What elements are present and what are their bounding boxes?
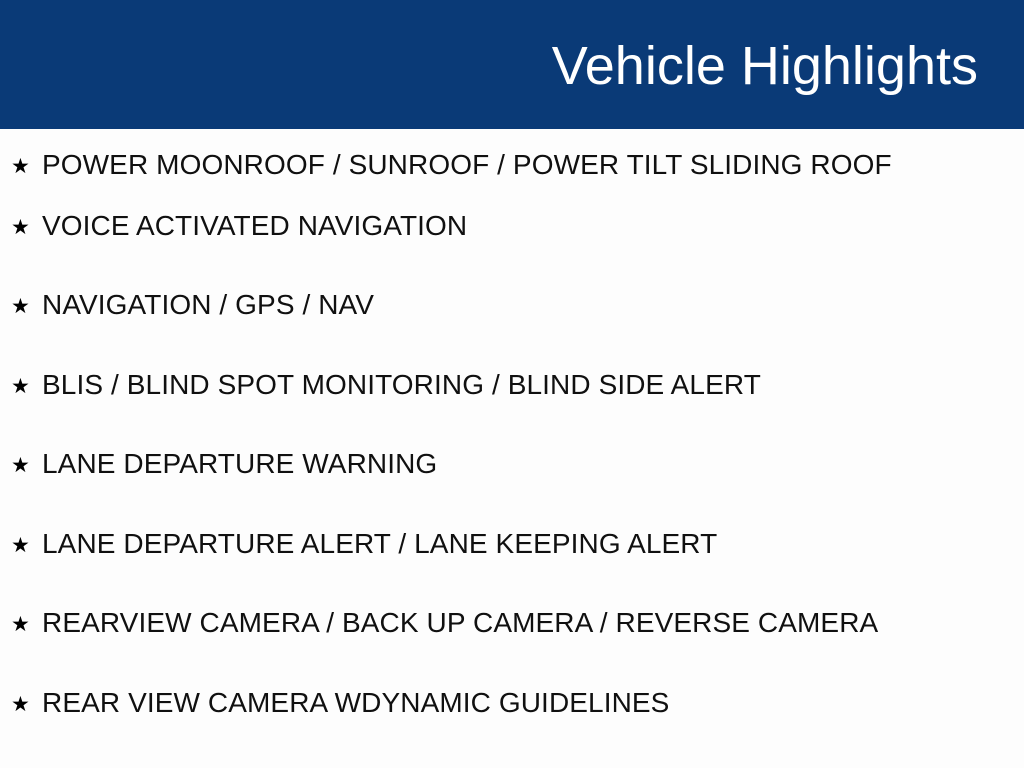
- list-item: ★ LANE DEPARTURE WARNING: [0, 447, 1024, 527]
- star-bullet-icon: ★: [11, 607, 42, 641]
- list-item: ★ BLIS / BLIND SPOT MONITORING / BLIND S…: [0, 368, 1024, 448]
- feature-label: LANE DEPARTURE WARNING: [42, 447, 1024, 481]
- feature-label: POWER MOONROOF / SUNROOF / POWER TILT SL…: [42, 148, 1024, 182]
- vehicle-features-list: ★ POWER MOONROOF / SUNROOF / POWER TILT …: [0, 129, 1024, 768]
- feature-label: BLIS / BLIND SPOT MONITORING / BLIND SID…: [42, 368, 1024, 402]
- list-item: ★ LANE DEPARTURE ALERT / LANE KEEPING AL…: [0, 527, 1024, 607]
- star-bullet-icon: ★: [11, 528, 42, 562]
- star-bullet-icon: ★: [11, 448, 42, 482]
- star-bullet-icon: ★: [11, 149, 42, 183]
- feature-label: VOICE ACTIVATED NAVIGATION: [42, 209, 1024, 243]
- feature-label: REARVIEW CAMERA / BACK UP CAMERA / REVER…: [42, 606, 1024, 640]
- feature-label: LANE DEPARTURE ALERT / LANE KEEPING ALER…: [42, 527, 1024, 561]
- feature-label: NAVIGATION / GPS / NAV: [42, 288, 1024, 322]
- star-bullet-icon: ★: [11, 369, 42, 403]
- list-item: ★ VOICE ACTIVATED NAVIGATION: [0, 209, 1024, 289]
- list-item: ★ REARVIEW CAMERA / BACK UP CAMERA / REV…: [0, 606, 1024, 686]
- star-bullet-icon: ★: [11, 210, 42, 244]
- vehicle-highlights-slide: Vehicle Highlights ★ POWER MOONROOF / SU…: [0, 0, 1024, 768]
- feature-label: REAR VIEW CAMERA WDYNAMIC GUIDELINES: [42, 686, 1024, 720]
- star-bullet-icon: ★: [11, 289, 42, 323]
- list-item: ★ POWER MOONROOF / SUNROOF / POWER TILT …: [0, 129, 1024, 209]
- page-title: Vehicle Highlights: [552, 38, 978, 95]
- star-bullet-icon: ★: [11, 687, 42, 721]
- header-banner: Vehicle Highlights: [0, 0, 1024, 129]
- list-item: ★ NAVIGATION / GPS / NAV: [0, 288, 1024, 368]
- list-item: ★ REAR VIEW CAMERA WDYNAMIC GUIDELINES: [0, 686, 1024, 766]
